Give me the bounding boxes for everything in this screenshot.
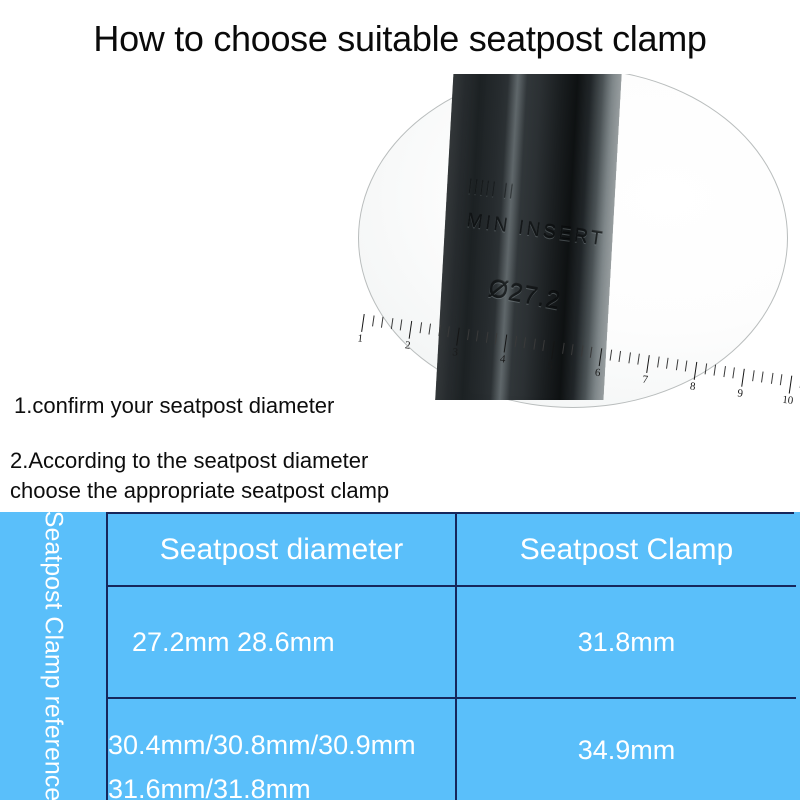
ruler-number: 6 [594,367,601,380]
ruler-tick-minor [438,325,441,336]
ruler-number: 8 [689,380,696,393]
ruler-tick-minor [780,374,783,385]
ruler-number: 4 [499,353,506,366]
ruler-tick-major [409,321,413,339]
ruler-tick-major [551,341,555,359]
ruler-tick-minor [628,352,631,363]
table-row: 27.2mm 28.6mm 31.8mm [108,587,796,699]
ruler-tick-minor [609,350,612,361]
ruler-tick-minor [571,344,574,355]
ruler-tick-minor [638,354,641,365]
ruler-tick-minor [562,343,565,354]
ruler-tick-minor [391,318,394,329]
ruler-tick-major [599,348,603,366]
ruler-tick-minor [771,373,774,384]
ruler-tick-major [361,314,365,332]
ruler-tick-minor [761,371,764,382]
ruler-tick-minor [714,365,717,376]
header-seatpost-diameter: Seatpost diameter [108,514,457,585]
ruler-tick-minor [533,339,536,350]
ruler-tick-minor [419,322,422,333]
ruler-tick-major [789,376,793,394]
ruler-tick-minor [495,333,498,344]
ruler-tick-minor [685,361,688,372]
ruler-tick-minor [381,317,384,328]
ruler-tick-major [646,355,650,373]
ruler-tick-minor [619,351,622,362]
cell-diameter-row-2-line-2: 31.6mm/31.8mm [108,767,455,800]
step-2-line-1: 2.According to the seatpost diameter [10,446,389,476]
header-seatpost-clamp: Seatpost Clamp [457,514,796,585]
ruler-tick-minor [524,337,527,348]
ruler-number: 3 [452,346,459,359]
ruler-tick-minor [448,326,451,337]
seatpost-clamp-reference-table: Seatpost Clamp reference Seatpost diamet… [0,512,800,800]
ruler-tick-minor [486,332,489,343]
ruler-tick-minor [372,315,375,326]
ruler-number: 1 [357,332,364,345]
step-2-line-2: choose the appropriate seatpost clamp [10,476,389,506]
ruler-tick-minor [723,366,726,377]
ruler-tick-minor [590,347,593,358]
table-header-row: Seatpost diameter Seatpost Clamp [108,514,796,587]
page-title: How to choose suitable seatpost clamp [0,18,800,60]
ruler-tick-minor [543,340,546,351]
ruler-number: 2 [404,339,411,352]
table-grid: Seatpost diameter Seatpost Clamp 27.2mm … [106,512,794,800]
ruler-tick-minor [676,359,679,370]
table-row: 30.4mm/30.8mm/30.9mm 31.6mm/31.8mm 34.9m… [108,699,796,800]
ruler-tick-minor [666,358,669,369]
ruler-tick-major [456,328,460,346]
table-vertical-label: Seatpost Clamp reference [0,512,106,800]
page-root: How to choose suitable seatpost clamp ||… [0,0,800,800]
ruler-tick-minor [704,363,707,374]
table-vertical-label-text: Seatpost Clamp reference [39,511,68,800]
ruler-tick-minor [733,367,736,378]
step-2-text: 2.According to the seatpost diameter cho… [10,446,389,506]
cell-clamp-row-1: 31.8mm [457,587,796,697]
ruler-tick-major [504,335,508,353]
ruler-number: 7 [642,374,649,387]
ruler-tick-major [741,369,745,387]
ruler-number: 5 [547,360,554,373]
ruler-tick-minor [400,319,403,330]
ruler-tick-minor [581,345,584,356]
ruler-tick-minor [476,330,479,341]
ruler-number: 9 [737,387,744,400]
cell-clamp-row-2: 34.9mm [457,699,796,800]
ruler-number: 10 [782,394,794,407]
ruler-tick-minor [429,324,432,335]
ruler-tick-major [694,362,698,380]
ruler-tick-minor [752,370,755,381]
cell-diameter-row-2: 30.4mm/30.8mm/30.9mm 31.6mm/31.8mm [108,699,457,800]
ruler-tick-minor [467,329,470,340]
ruler-tick-minor [657,356,660,367]
cell-diameter-row-2-line-1: 30.4mm/30.8mm/30.9mm [108,723,455,767]
ruler-tick-minor [514,336,517,347]
cell-diameter-row-1: 27.2mm 28.6mm [108,587,457,697]
step-1-text: 1.confirm your seatpost diameter [14,391,334,421]
seatpost-photo: ||||| || MIN INSERT Ø27.2 12345678910111… [330,74,800,474]
